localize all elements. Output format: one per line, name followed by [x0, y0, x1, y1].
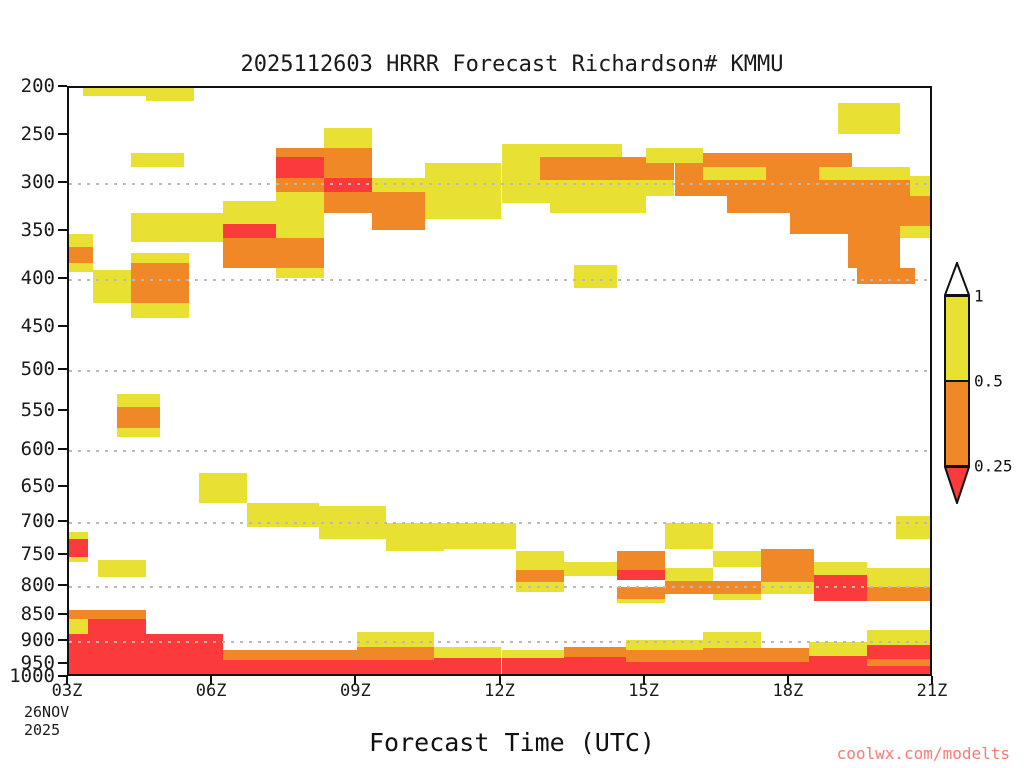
- heatmap-cell: [814, 575, 867, 587]
- heatmap-cell: [223, 660, 358, 676]
- heatmap-cell: [69, 532, 88, 539]
- heatmap-cell: [910, 176, 932, 195]
- y-axis-label: 550: [0, 399, 55, 421]
- heatmap-cell: [69, 625, 88, 633]
- x-axis-label: 03Z: [52, 681, 83, 701]
- heatmap-cell: [617, 551, 665, 570]
- heatmap-cell: [98, 560, 146, 577]
- heatmap-cell: [223, 224, 276, 237]
- y-axis-tick: [58, 448, 67, 450]
- heatmap-cell: [713, 594, 761, 600]
- heatmap-cell: [324, 192, 372, 213]
- heatmap-cell: [319, 506, 386, 539]
- plot-area: [67, 86, 932, 676]
- heatmap-cell: [626, 662, 703, 676]
- y-axis-label: 600: [0, 438, 55, 460]
- heatmap-cell: [223, 650, 358, 660]
- y-axis-tick: [58, 181, 67, 183]
- heatmap-cell: [434, 647, 501, 658]
- heatmap-cells: [69, 88, 930, 674]
- heatmap-cell: [434, 658, 501, 676]
- heatmap-cell: [131, 153, 184, 166]
- heatmap-cell: [761, 549, 814, 567]
- heatmap-cell: [247, 503, 319, 527]
- y-axis-label: 350: [0, 219, 55, 241]
- heatmap-cell: [896, 516, 932, 539]
- heatmap-cell: [516, 570, 564, 582]
- heatmap-cell: [131, 303, 189, 318]
- heatmap-cell: [199, 473, 247, 503]
- colorbar-tick-label: 0.25: [974, 457, 1013, 476]
- heatmap-cell: [69, 263, 93, 273]
- page-title: 2025112603 HRRR Forecast Richardson# KMM…: [0, 52, 1024, 77]
- heatmap-cell: [502, 180, 550, 203]
- y-axis-tick: [58, 639, 67, 641]
- heatmap-cell: [867, 630, 932, 645]
- y-axis-tick: [58, 662, 67, 664]
- heatmap-cell: [665, 523, 713, 549]
- heatmap-cell: [814, 562, 867, 574]
- heatmap-cell: [276, 148, 324, 158]
- y-axis-label: 850: [0, 603, 55, 625]
- y-axis-tick: [58, 368, 67, 370]
- heatmap-cell: [867, 587, 932, 601]
- heatmap-cell: [703, 648, 809, 663]
- y-axis-tick: [58, 85, 67, 87]
- heatmap-cell: [372, 178, 425, 191]
- heatmap-cell: [117, 407, 160, 428]
- heatmap-cell: [69, 234, 93, 247]
- heatmap-cell: [809, 642, 867, 656]
- y-axis-label: 250: [0, 123, 55, 145]
- heatmap-cell: [761, 582, 814, 594]
- x-axis-label: 15Z: [628, 681, 659, 701]
- heatmap-cell: [425, 192, 502, 219]
- y-axis-tick: [58, 229, 67, 231]
- y-axis-label: 750: [0, 543, 55, 565]
- heatmap-cell: [848, 234, 901, 269]
- y-axis-tick: [58, 325, 67, 327]
- heatmap-cell: [900, 226, 932, 238]
- heatmap-cell: [223, 201, 276, 224]
- heatmap-cell: [857, 268, 915, 283]
- heatmap-cell: [502, 658, 564, 676]
- heatmap-cell: [867, 568, 932, 587]
- watermark-link[interactable]: coolwx.com/modelts: [837, 744, 1010, 763]
- heatmap-cell: [444, 523, 516, 549]
- y-axis-label: 700: [0, 510, 55, 532]
- heatmap-cell: [276, 178, 324, 191]
- y-axis-label: 1000: [0, 665, 55, 687]
- heatmap-cell: [626, 640, 703, 650]
- heatmap-cell: [703, 632, 761, 648]
- heatmap-cell: [69, 557, 88, 562]
- colorbar-separator: [944, 295, 970, 297]
- heatmap-cell: [117, 428, 160, 437]
- y-axis-tick: [58, 277, 67, 279]
- heatmap-cell: [357, 647, 434, 661]
- heatmap-cell: [357, 632, 434, 647]
- heatmap-cell: [761, 567, 814, 582]
- heatmap-cell: [131, 263, 189, 303]
- colorbar-over-arrow: [944, 262, 970, 296]
- heatmap-cell: [564, 647, 626, 657]
- colorbar-band-yellow: [944, 296, 970, 381]
- heatmap-cell: [809, 656, 867, 667]
- x-axis-label: 12Z: [484, 681, 515, 701]
- y-axis-tick: [58, 133, 67, 135]
- colorbar-tick-label: 1: [974, 287, 984, 306]
- heatmap-cell: [69, 634, 223, 676]
- heatmap-cell: [574, 265, 617, 288]
- heatmap-cell: [838, 103, 900, 134]
- heatmap-cell: [665, 568, 713, 580]
- y-axis-label: 450: [0, 315, 55, 337]
- heatmap-cell: [324, 178, 372, 191]
- heatmap-cell: [372, 192, 425, 230]
- heatmap-cell: [276, 268, 324, 278]
- colorbar-under-arrow: [944, 466, 970, 504]
- heatmap-cell: [69, 539, 88, 557]
- chart-page: 2025112603 HRRR Forecast Richardson# KMM…: [0, 0, 1024, 768]
- heatmap-cell: [727, 180, 932, 213]
- colorbar-separator: [944, 380, 970, 382]
- heatmap-cell: [516, 551, 564, 570]
- y-axis-label: 400: [0, 267, 55, 289]
- heatmap-cell: [83, 88, 145, 96]
- heatmap-cell: [646, 148, 704, 163]
- heatmap-cell: [276, 157, 324, 178]
- heatmap-cell: [626, 650, 703, 662]
- y-axis-label: 500: [0, 358, 55, 380]
- y-axis-label: 200: [0, 75, 55, 97]
- heatmap-cell: [117, 394, 160, 407]
- heatmap-cell: [867, 659, 932, 666]
- heatmap-cell: [69, 247, 93, 262]
- heatmap-cell: [867, 666, 932, 676]
- y-axis-label: 800: [0, 574, 55, 596]
- x-axis-label: 21Z: [917, 681, 948, 701]
- heatmap-cell: [617, 570, 665, 580]
- heatmap-cell: [516, 582, 564, 592]
- y-axis-tick: [58, 584, 67, 586]
- x-axis-label: 09Z: [340, 681, 371, 701]
- heatmap-cell: [713, 551, 761, 567]
- y-axis-tick: [58, 520, 67, 522]
- heatmap-cell: [223, 238, 324, 269]
- heatmap-cell: [564, 562, 617, 576]
- heatmap-cell: [386, 523, 444, 551]
- y-axis-label: 300: [0, 171, 55, 193]
- heatmap-cell: [617, 599, 665, 604]
- heatmap-cell: [665, 581, 761, 594]
- heatmap-cell: [550, 180, 646, 213]
- heatmap-cell: [324, 148, 372, 179]
- heatmap-cell: [425, 163, 502, 192]
- heatmap-cell: [867, 645, 932, 659]
- y-axis-tick: [58, 485, 67, 487]
- y-axis-tick: [58, 613, 67, 615]
- heatmap-cell: [131, 213, 222, 242]
- heatmap-cell: [69, 610, 146, 619]
- colorbar-legend: 10.50.25: [944, 296, 970, 466]
- heatmap-cell: [564, 657, 626, 676]
- heatmap-cell: [324, 128, 372, 147]
- y-axis-tick: [58, 409, 67, 411]
- heatmap-cell: [703, 662, 809, 676]
- heatmap-cell: [146, 88, 194, 101]
- colorbar-tick-label: 0.5: [974, 372, 1003, 391]
- heatmap-cell: [357, 660, 434, 676]
- heatmap-cell: [502, 650, 564, 657]
- x-axis-label: 18Z: [772, 681, 803, 701]
- heatmap-cell: [131, 253, 189, 263]
- heatmap-cell: [88, 619, 146, 634]
- heatmap-cell: [276, 201, 324, 237]
- heatmap-cell: [809, 667, 867, 676]
- y-axis-label: 650: [0, 475, 55, 497]
- x-axis-label: 06Z: [196, 681, 227, 701]
- colorbar-band-orange: [944, 381, 970, 466]
- heatmap-cell: [814, 587, 867, 601]
- y-axis-tick: [58, 553, 67, 555]
- heatmap-cell: [617, 587, 665, 599]
- y-axis-label: 900: [0, 629, 55, 651]
